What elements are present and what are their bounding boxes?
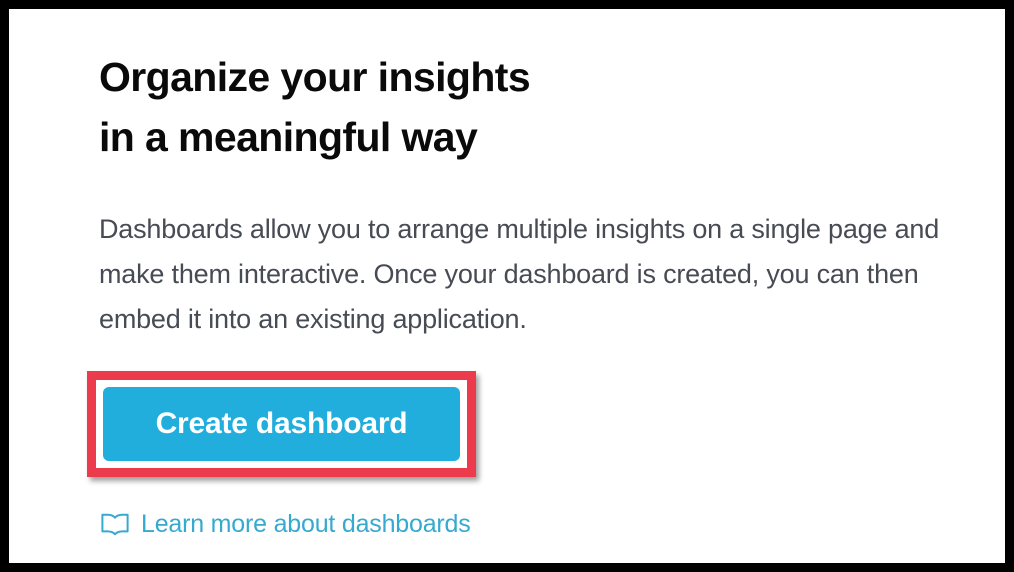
create-dashboard-button[interactable]: Create dashboard bbox=[103, 387, 460, 461]
button-highlight-annotation: Create dashboard bbox=[87, 371, 476, 477]
content-area: Organize your insights in a meaningful w… bbox=[9, 9, 1005, 563]
open-book-icon bbox=[100, 511, 130, 537]
learn-more-label: Learn more about dashboards bbox=[141, 509, 471, 539]
description-text: Dashboards allow you to arrange multiple… bbox=[99, 207, 1004, 342]
screenshot-frame: Organize your insights in a meaningful w… bbox=[0, 0, 1014, 572]
page-title: Organize your insights in a meaningful w… bbox=[99, 47, 530, 167]
learn-more-about-dashboards-link[interactable]: Learn more about dashboards bbox=[100, 509, 471, 539]
